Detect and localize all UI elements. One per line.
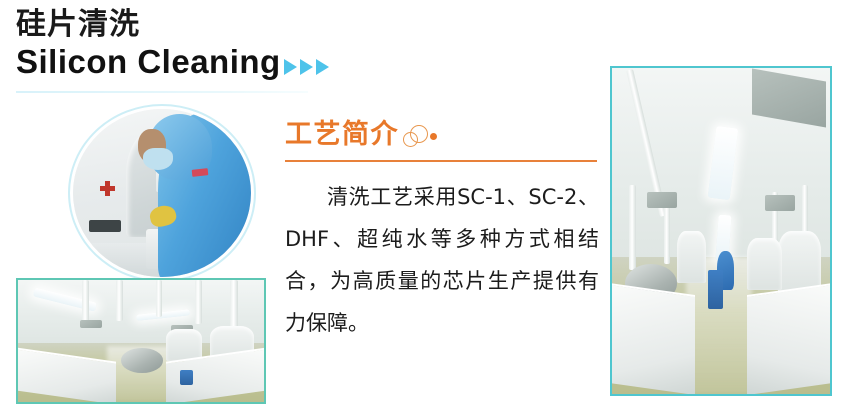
header-block: 硅片清洗 Silicon Cleaning <box>16 6 416 82</box>
slide-canvas: 硅片清洗 Silicon Cleaning <box>0 0 841 408</box>
cleanroom-operator-photo <box>73 109 251 277</box>
page-title-cn: 硅片清洗 <box>16 6 416 44</box>
triangle-right-icon <box>316 59 329 75</box>
cleanroom-aisle-photo <box>610 66 832 396</box>
photo-cart <box>708 270 723 309</box>
section-title: 工艺简介 <box>285 120 399 150</box>
page-title-en-row: Silicon Cleaning <box>16 42 416 82</box>
page-title-en: Silicon Cleaning <box>16 42 281 82</box>
photo-wall-vent <box>647 192 678 208</box>
photo-ceiling-pipe <box>156 280 162 317</box>
header-divider <box>16 91 308 93</box>
triangle-right-icon <box>284 59 297 75</box>
photo-ceiling-pipe <box>629 185 636 270</box>
section-body-text: 清洗工艺采用SC-1、SC-2、DHF、超纯水等多种方式相结合，为高质量的芯片生… <box>285 176 599 344</box>
photo-wall-panel <box>89 220 121 232</box>
photo-bench-left <box>610 281 695 395</box>
photo-workstation-hood <box>166 329 203 361</box>
arrow-decoration-group <box>284 59 329 75</box>
photo-scene <box>18 280 264 402</box>
photo-scene <box>612 68 830 394</box>
photo-autoclave <box>121 348 163 372</box>
photo-cart <box>180 370 192 385</box>
photo-wall-vent <box>765 195 796 211</box>
photo-ceiling-pipe <box>195 280 202 324</box>
photo-bench-right <box>747 281 832 395</box>
triangle-right-icon <box>300 59 313 75</box>
circular-photo-frame <box>68 104 256 282</box>
section-title-row: 工艺简介 <box>285 120 447 150</box>
photo-ceiling-pipe <box>116 280 122 321</box>
circle-outline-icon <box>403 132 418 147</box>
photo-ceiling-pipe <box>230 280 239 329</box>
photo-wall-vent <box>80 320 102 327</box>
photo-worker-mask <box>143 148 173 170</box>
section-title-underline <box>285 160 597 162</box>
dot-icon <box>430 133 437 140</box>
circles-decoration-icon <box>401 120 447 150</box>
red-cross-icon <box>100 181 115 196</box>
photo-workstation-hood <box>747 238 782 290</box>
photo-workstation-hood <box>677 231 705 283</box>
cleanroom-corridor-photo <box>16 278 266 404</box>
